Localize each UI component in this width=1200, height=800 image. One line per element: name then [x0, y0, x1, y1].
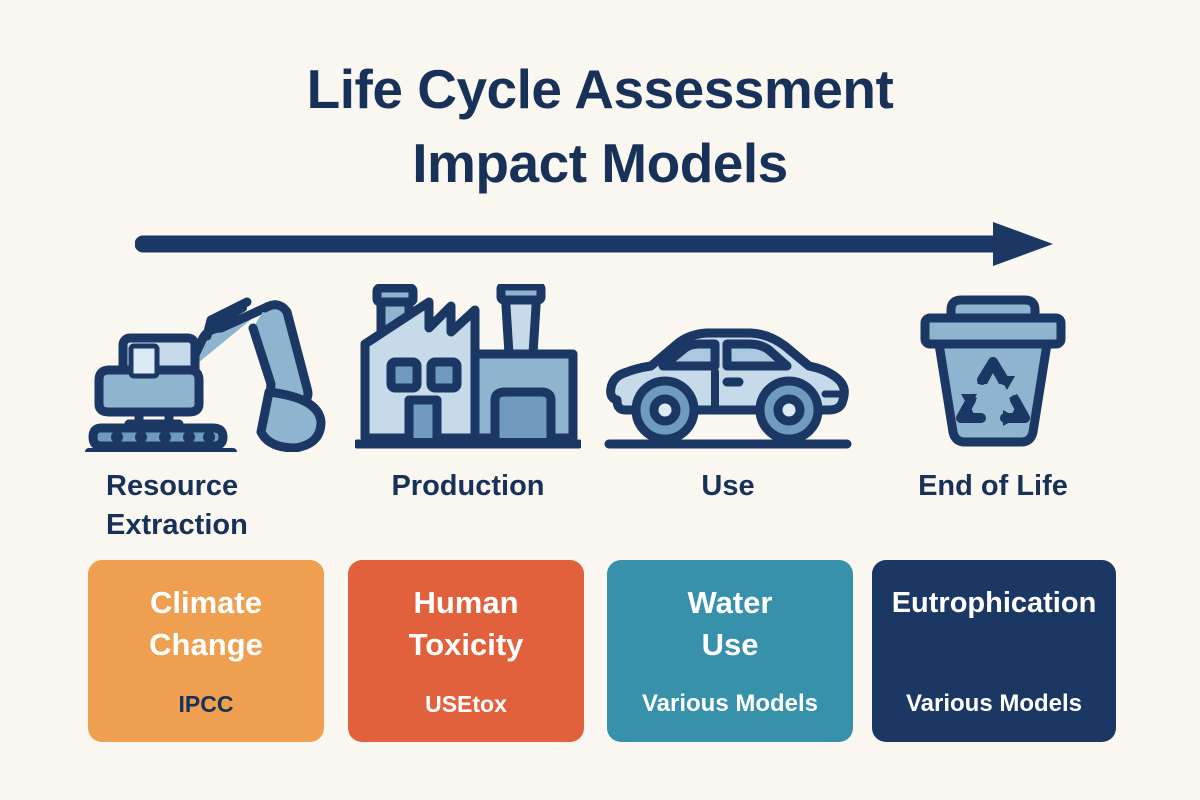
impact-card-title: Water Use — [617, 582, 843, 666]
stage-end-of-life[interactable]: End of Life — [863, 272, 1123, 542]
flow-arrow-icon — [135, 218, 1060, 270]
recycling-bin-icon — [863, 272, 1123, 452]
factory-icon — [338, 272, 598, 452]
impact-card-title: Eutrophication — [882, 582, 1106, 624]
page-title: Life Cycle Assessment Impact Models — [0, 52, 1200, 200]
impact-card-climate-change[interactable]: Climate Change IPCC — [88, 560, 324, 742]
title-line-2: Impact Models — [0, 126, 1200, 200]
impact-card-model: IPCC — [88, 690, 324, 718]
excavator-icon — [78, 272, 338, 452]
impact-card-model: USEtox — [348, 690, 584, 718]
stage-resource-extraction[interactable]: Resource Extraction — [78, 272, 338, 542]
stage-production[interactable]: Production — [338, 272, 598, 542]
infographic-canvas: Life Cycle Assessment Impact Models — [0, 0, 1200, 800]
stage-label-resource-extraction: Resource Extraction — [78, 467, 338, 545]
impact-card-model: Various Models — [872, 690, 1116, 718]
car-icon — [598, 272, 858, 452]
flow-arrow — [135, 218, 1060, 270]
impact-card-title: Climate Change — [98, 582, 314, 666]
title-line-1: Life Cycle Assessment — [0, 52, 1200, 126]
impact-card-human-toxicity[interactable]: Human Toxicity USEtox — [348, 560, 584, 742]
impact-card-title: Human Toxicity — [358, 582, 574, 666]
impact-card-water-use[interactable]: Water Use Various Models — [607, 560, 853, 742]
stage-label-production: Production — [338, 467, 598, 506]
impact-card-model: Various Models — [607, 690, 853, 718]
impact-card-eutrophication[interactable]: Eutrophication Various Models — [872, 560, 1116, 742]
stage-use[interactable]: Use — [598, 272, 858, 542]
impact-model-card-row: Climate Change IPCC Human Toxicity USEto… — [88, 560, 1116, 742]
lifecycle-stage-row: Resource Extraction — [78, 272, 1123, 542]
stage-label-use: Use — [598, 467, 858, 506]
stage-label-end-of-life: End of Life — [863, 467, 1123, 506]
